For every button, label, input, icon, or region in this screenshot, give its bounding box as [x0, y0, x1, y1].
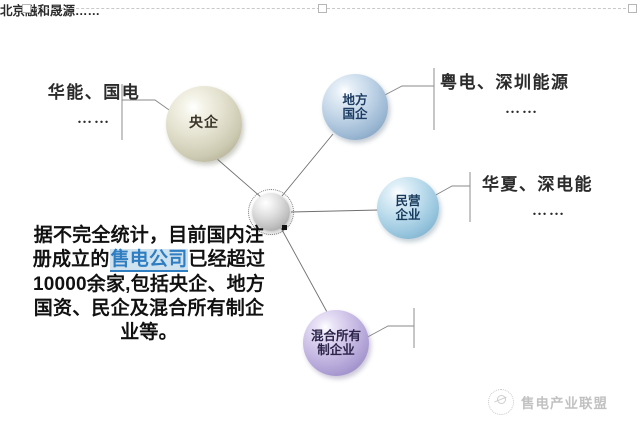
node-private-enterprise[interactable]: 民营 企业 [377, 177, 439, 239]
spoke-to-local-soe [282, 134, 333, 196]
node-mixed-ownership-label-line1: 混合所有 [311, 329, 361, 343]
watermark-text: 售电产业联盟 [521, 392, 608, 412]
node-local-soe-label: 地方 国企 [342, 93, 367, 121]
summary-paragraph: 据不完全统计，目前国内注册成立的售电公司已经超过10000余家,包括央企、地方国… [30, 224, 268, 346]
side-label-private-enterprise-ellipsis: …… [466, 203, 632, 220]
leader-private-enterprise [434, 186, 470, 196]
spoke-to-private-enterprise [291, 210, 379, 212]
node-central-soe-label: 央企 [189, 116, 219, 132]
spoke-to-mixed-ownership [281, 228, 327, 312]
hub-resize-grip[interactable] [282, 225, 287, 230]
slide-canvas: 央企 地方 国企 民营 企业 混合所有 制企业 华能、国电 …… 粤电、深圳能源… [0, 0, 640, 432]
side-label-central-soe-title: 华能、国电 [24, 78, 164, 103]
side-label-local-soe-ellipsis: …… [414, 101, 630, 118]
side-label-local-soe-title: 粤电、深圳能源 [440, 68, 630, 93]
node-mixed-ownership-label: 混合所有 制企业 [311, 329, 361, 357]
side-label-central-soe-ellipsis: …… [24, 111, 164, 128]
side-label-local-soe: 粤电、深圳能源 …… [440, 68, 630, 118]
side-label-central-soe: 华能、国电 …… [24, 78, 164, 128]
node-local-soe-label-line2: 国企 [342, 107, 367, 121]
node-private-enterprise-label-line2: 企业 [395, 208, 420, 222]
node-private-enterprise-label: 民营 企业 [395, 194, 420, 222]
circle-logo-icon [488, 389, 514, 415]
node-local-soe-label-line1: 地方 [342, 93, 367, 107]
spoke-to-central-soe [216, 158, 262, 198]
node-private-enterprise-label-line1: 民营 [395, 194, 420, 208]
side-label-private-enterprise-title: 华夏、深电能 [482, 170, 632, 195]
leader-local-soe [383, 86, 434, 96]
leader-mixed-ownership [362, 326, 414, 340]
summary-paragraph-highlight: 售电公司 [110, 249, 189, 272]
side-label-private-enterprise: 华夏、深电能 …… [482, 170, 632, 220]
node-central-soe[interactable]: 央企 [166, 86, 242, 162]
node-mixed-ownership[interactable]: 混合所有 制企业 [303, 310, 369, 376]
node-mixed-ownership-label-line2: 制企业 [311, 343, 361, 357]
watermark: 售电产业联盟 [488, 389, 608, 415]
node-local-soe[interactable]: 地方 国企 [322, 74, 388, 140]
